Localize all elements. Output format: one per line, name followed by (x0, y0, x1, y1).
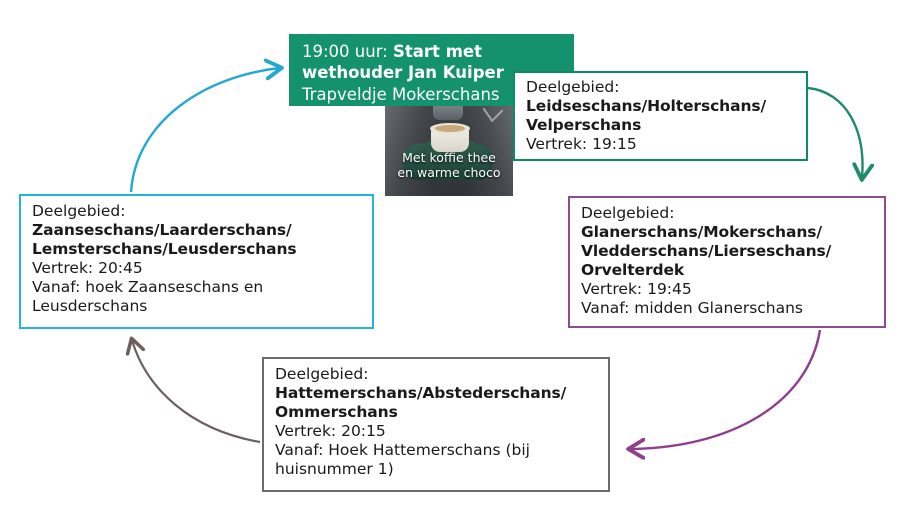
stop-box-zaanseschans: Deelgebied: Zaanseschans/Laarderschans/ … (19, 194, 374, 329)
stop-areas-line2: Vledderschans/Lierseschans/ (581, 242, 875, 261)
purple-arrow (630, 330, 820, 449)
stop-label: Deelgebied: (32, 202, 363, 221)
stop-from: Vanaf: midden Glanerschans (581, 299, 875, 318)
stop-box-leidseschans: Deelgebied: Leidseschans/Holterschans/ V… (513, 71, 808, 161)
cyan-arrow (131, 68, 280, 192)
stop-departure: Vertrek: 20:15 (275, 422, 599, 441)
stop-label: Deelgebied: (581, 204, 875, 223)
stop-areas-line2: Ommerschans (275, 403, 599, 422)
stop-from-line1: Vanaf: Hoek Hattemerschans (bij (275, 441, 599, 460)
start-headline-line1: Start met (393, 42, 482, 61)
stop-areas-line1: Zaanseschans/Laarderschans/ (32, 221, 363, 240)
stop-areas-line3: Orvelterdek (581, 261, 875, 280)
photo-cup-contents (435, 125, 465, 132)
stop-departure: Vertrek: 19:45 (581, 280, 875, 299)
start-time: 19:00 uur: (302, 42, 393, 61)
coffee-cup-gloves-photo: Met koffie thee en warme choco (385, 96, 513, 196)
stop-departure: Vertrek: 20:45 (32, 259, 363, 278)
stop-box-hattemerschans: Deelgebied: Hattemerschans/Abstederschan… (262, 357, 610, 492)
stop-areas-line1: Leidseschans/Holterschans/ (526, 97, 797, 116)
diagram-canvas: 19:00 uur: Start met wethouder Jan Kuipe… (0, 0, 902, 507)
stop-label: Deelgebied: (275, 365, 599, 384)
stop-box-glanerschans: Deelgebied: Glanerschans/Mokerschans/ Vl… (568, 196, 886, 328)
stop-from-line1: Vanaf: hoek Zaanseschans en (32, 278, 363, 297)
photo-caption-line2: en warme choco (385, 165, 513, 180)
green-arrow (808, 88, 863, 178)
stop-areas-line1: Hattemerschans/Abstederschans/ (275, 384, 599, 403)
stop-areas-line1: Glanerschans/Mokerschans/ (581, 223, 875, 242)
stop-label: Deelgebied: (526, 78, 797, 97)
photo-caption: Met koffie thee en warme choco (385, 150, 513, 181)
stop-areas-line2: Lemsterschans/Leusderschans (32, 240, 363, 259)
stop-areas-line2: Velperschans (526, 116, 797, 135)
photo-caption-line1: Met koffie thee (385, 150, 513, 165)
stop-from-line2: Leusderschans (32, 297, 363, 316)
gray-arrow (132, 340, 260, 442)
stop-departure: Vertrek: 19:15 (526, 135, 797, 154)
stop-from-line2: huisnummer 1) (275, 460, 599, 479)
